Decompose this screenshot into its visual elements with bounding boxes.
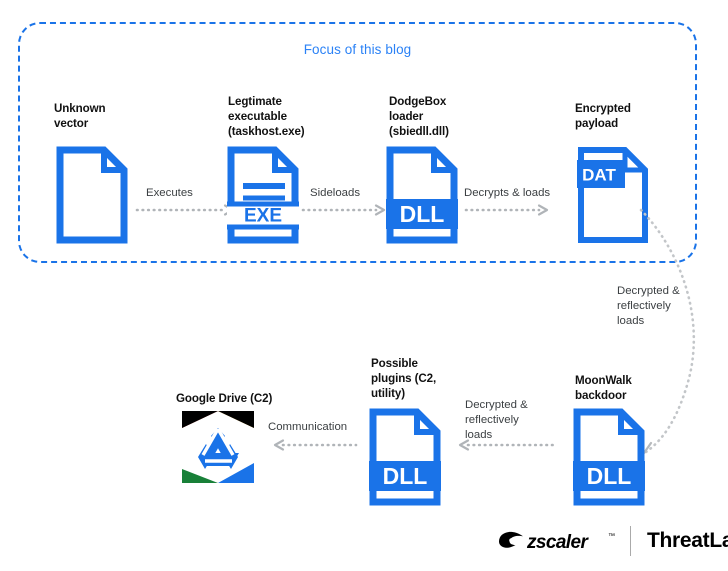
caption-line: payload (575, 116, 695, 131)
zscaler-logo: zscaler ™ (496, 527, 616, 555)
caption-line: Unknown (54, 101, 164, 116)
dat-file-icon: DAT (577, 146, 649, 244)
caption-unknown-vector: Unknown vector (54, 101, 164, 131)
arrow-executes (137, 204, 237, 216)
dat-badge-text: DAT (582, 166, 616, 185)
arrow-label-line: reflectively (465, 413, 555, 428)
caption-dodgebox-loader: DodgeBox loader (sbiedll.dll) (389, 94, 519, 139)
caption-google-drive: Google Drive (C2) (176, 391, 336, 406)
brand-divider (630, 526, 631, 556)
focus-region-label: Focus of this blog (18, 42, 697, 57)
arrow-label-line: reflectively (617, 299, 703, 314)
exe-badge-text: EXE (244, 206, 282, 227)
footer-branding: zscaler ™ ThreatLabz (496, 524, 728, 558)
caption-line: (taskhost.exe) (228, 124, 358, 139)
dll-badge-text: DLL (400, 201, 445, 227)
caption-line: executable (228, 109, 358, 124)
exe-file-icon: EXE (227, 146, 299, 244)
diagram-canvas: Focus of this blog Unknown vector Execut… (0, 0, 728, 571)
caption-moonwalk-backdoor: MoonWalk backdoor (575, 373, 695, 403)
dll-file-icon-plugins: DLL (369, 408, 441, 506)
caption-line: backdoor (575, 388, 695, 403)
caption-line: Google Drive (C2) (176, 391, 336, 406)
arrow-label-line: loads (617, 314, 703, 329)
dll-file-icon-moonwalk: DLL (573, 408, 645, 506)
caption-line: Possible (371, 356, 491, 371)
dll-badge-text: DLL (383, 463, 428, 489)
caption-possible-plugins: Possible plugins (C2, utility) (371, 356, 491, 401)
arrow-sideloads (303, 204, 388, 216)
arrow-label-executes: Executes (146, 186, 236, 201)
dll-file-icon-dodgebox: DLL (386, 146, 458, 244)
arrow-decrypts-loads (466, 204, 551, 216)
caption-legitimate-executable: Legtimate executable (taskhost.exe) (228, 94, 358, 139)
google-drive-logo (182, 411, 254, 483)
arrow-label-decrypts-loads: Decrypts & loads (464, 186, 584, 201)
caption-line: DodgeBox (389, 94, 519, 109)
caption-line: loader (389, 109, 519, 124)
zscaler-trademark-icon: ™ (608, 533, 615, 540)
arrow-label-communication: Communication (268, 420, 378, 435)
arrow-label-line: Decrypted & (465, 398, 555, 413)
caption-line: vector (54, 116, 164, 131)
arrow-label-line: Decrypted & (617, 284, 703, 299)
caption-line: Encrypted (575, 101, 695, 116)
caption-line: MoonWalk (575, 373, 695, 388)
caption-line: plugins (C2, (371, 371, 491, 386)
blank-file-icon (56, 146, 128, 244)
arrow-label-payload-to-backdoor: Decrypted & reflectively loads (617, 284, 703, 329)
caption-line: (sbiedll.dll) (389, 124, 519, 139)
arrow-communication (271, 439, 356, 451)
arrow-label-decrypted-reflectively-loads: Decrypted & reflectively loads (465, 398, 555, 443)
dll-badge-text: DLL (587, 463, 632, 489)
zscaler-wordmark-text: zscaler (526, 532, 589, 553)
caption-encrypted-payload: Encrypted payload (575, 101, 695, 131)
arrow-decrypted-reflectively-loads (456, 439, 556, 451)
caption-line: Legtimate (228, 94, 358, 109)
threatlabz-wordmark: ThreatLabz (647, 529, 728, 553)
